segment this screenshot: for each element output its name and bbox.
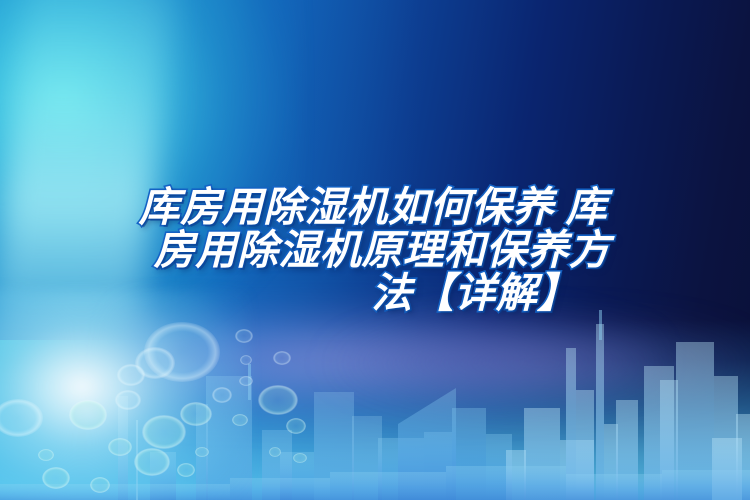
banner-title: 库房用除湿机如何保养 库 房用除湿机原理和保养方 法【详解】 <box>0 186 750 315</box>
banner-image: 库房用除湿机如何保养 库 房用除湿机原理和保养方 法【详解】 <box>0 0 750 500</box>
title-line-1: 库房用除湿机如何保养 库 <box>0 186 750 229</box>
title-line-3: 法【详解】 <box>0 272 750 315</box>
title-line-2: 房用除湿机原理和保养方 <box>0 229 750 272</box>
